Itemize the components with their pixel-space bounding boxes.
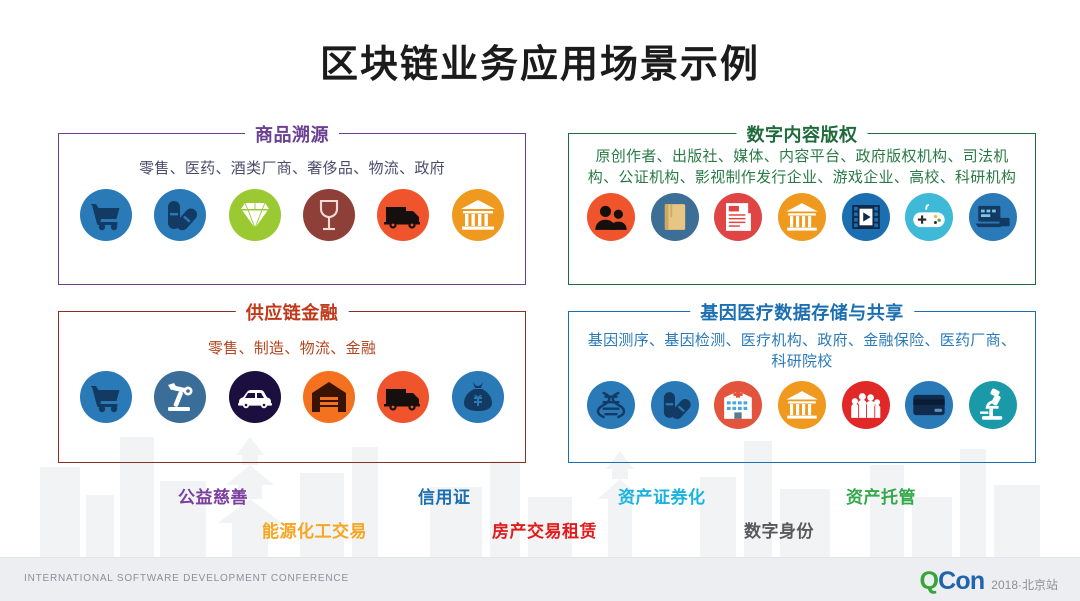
tag-energy-chemical-trading: 能源化工交易 bbox=[262, 517, 367, 542]
book-icon[interactable] bbox=[651, 193, 699, 241]
footer-bar: INTERNATIONAL SOFTWARE DEVELOPMENT CONFE… bbox=[0, 557, 1080, 601]
hospital-icon[interactable] bbox=[714, 381, 762, 429]
qcon-logo-q: Q bbox=[919, 567, 938, 595]
family-icon[interactable] bbox=[842, 381, 890, 429]
bank-icon[interactable] bbox=[452, 189, 504, 241]
slide-canvas: 区块链业务应用场景示例 商品溯源 零售、医药、酒类厂商、奢侈品、物流、政府 bbox=[0, 0, 1080, 601]
panel-title-supplychain: 供应链金融 bbox=[236, 299, 349, 325]
icon-row-genomic bbox=[569, 381, 1035, 429]
icon-row-copyright bbox=[569, 193, 1035, 241]
warehouse-icon[interactable] bbox=[303, 371, 355, 423]
robot-arm-icon[interactable] bbox=[154, 371, 206, 423]
bank-icon[interactable] bbox=[778, 381, 826, 429]
panel-title-copyright: 数字内容版权 bbox=[737, 121, 868, 147]
credit-card-icon[interactable] bbox=[905, 381, 953, 429]
shopping-cart-icon[interactable] bbox=[80, 371, 132, 423]
panel-copyright: 数字内容版权 原创作者、出版社、媒体、内容平台、政府版权机构、司法机构、公证机构… bbox=[568, 133, 1036, 285]
keyword-tags: 公益慈善 信用证 资产证券化 资产托管 能源化工交易 房产交易租赁 数字身份 bbox=[0, 475, 1080, 555]
panel-description-genomic: 基因测序、基因检测、医疗机构、政府、金融保险、医药厂商、科研院校 bbox=[569, 330, 1035, 373]
film-video-icon[interactable] bbox=[842, 193, 890, 241]
diamond-icon[interactable] bbox=[229, 189, 281, 241]
car-icon[interactable] bbox=[229, 371, 281, 423]
panel-title-traceability: 商品溯源 bbox=[245, 121, 339, 147]
qcon-logo-con: Con bbox=[938, 567, 984, 595]
pills-icon[interactable] bbox=[651, 381, 699, 429]
page-title: 区块链业务应用场景示例 bbox=[0, 33, 1080, 88]
gamepad-icon[interactable] bbox=[905, 193, 953, 241]
delivery-truck-icon[interactable] bbox=[377, 189, 429, 241]
tag-letter-of-credit: 信用证 bbox=[418, 483, 471, 508]
bank-icon[interactable] bbox=[778, 193, 826, 241]
tag-asset-custody: 资产托管 bbox=[846, 483, 916, 508]
panel-title-genomic: 基因医疗数据存储与共享 bbox=[690, 299, 914, 325]
tag-charity: 公益慈善 bbox=[178, 483, 248, 508]
panel-genomic: 基因医疗数据存储与共享 基因测序、基因检测、医疗机构、政府、金融保险、医药厂商、… bbox=[568, 311, 1036, 463]
qcon-logo: QCon 2018·北京站 bbox=[919, 567, 1058, 596]
people-icon[interactable] bbox=[587, 193, 635, 241]
delivery-truck-icon[interactable] bbox=[377, 371, 429, 423]
tag-real-estate-leasing: 房产交易租赁 bbox=[492, 517, 597, 542]
tag-digital-identity: 数字身份 bbox=[744, 517, 814, 542]
panel-description-traceability: 零售、医药、酒类厂商、奢侈品、物流、政府 bbox=[59, 158, 525, 179]
panel-description-copyright: 原创作者、出版社、媒体、内容平台、政府版权机构、司法机构、公证机构、影视制作发行… bbox=[569, 146, 1035, 189]
news-icon[interactable] bbox=[714, 193, 762, 241]
icon-row-traceability bbox=[59, 189, 525, 241]
money-bag-icon[interactable] bbox=[452, 371, 504, 423]
icon-row-supplychain bbox=[59, 371, 525, 423]
wine-glass-icon[interactable] bbox=[303, 189, 355, 241]
dna-icon[interactable] bbox=[587, 381, 635, 429]
panel-supplychain: 供应链金融 零售、制造、物流、金融 bbox=[58, 311, 526, 463]
conference-tagline: INTERNATIONAL SOFTWARE DEVELOPMENT CONFE… bbox=[24, 573, 349, 584]
pills-icon[interactable] bbox=[154, 189, 206, 241]
microscope-icon[interactable] bbox=[969, 381, 1017, 429]
panel-description-supplychain: 零售、制造、物流、金融 bbox=[59, 338, 525, 359]
shopping-cart-icon[interactable] bbox=[80, 189, 132, 241]
qcon-edition-label: 2018·北京站 bbox=[991, 576, 1058, 593]
panel-traceability: 商品溯源 零售、医药、酒类厂商、奢侈品、物流、政府 bbox=[58, 133, 526, 285]
computer-icon[interactable] bbox=[969, 193, 1017, 241]
tag-securitization: 资产证券化 bbox=[618, 483, 706, 508]
